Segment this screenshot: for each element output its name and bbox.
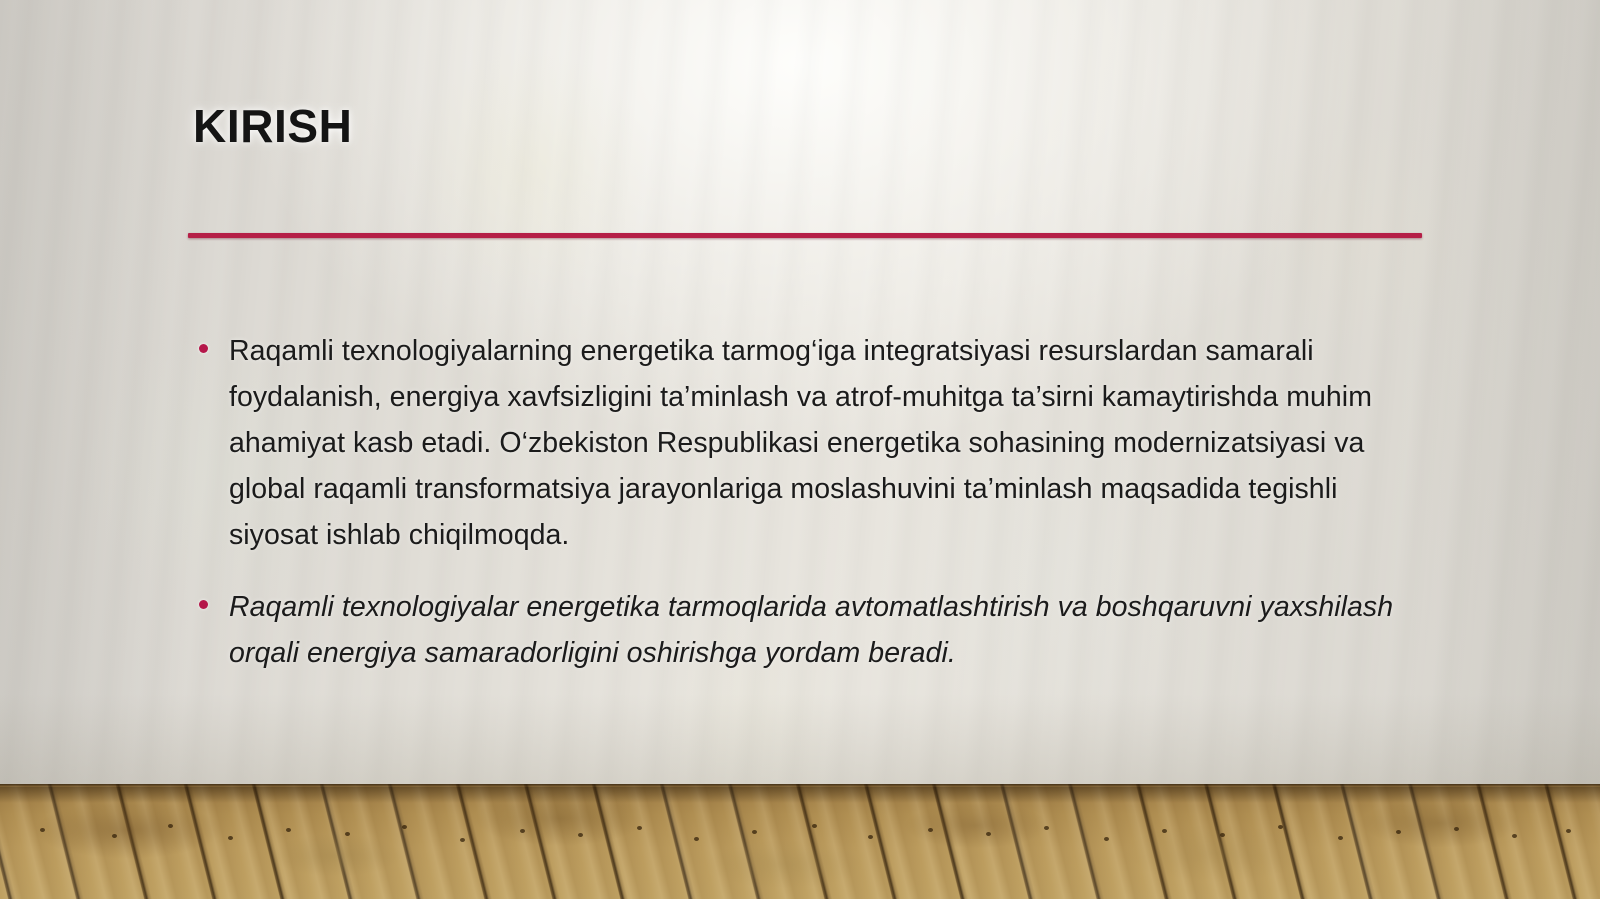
bullet-paragraph-2: Raqamli texnologiyalar energetika tarmoq… — [229, 584, 1406, 676]
bullet-dot-icon — [199, 600, 208, 609]
wooden-floor — [0, 784, 1600, 899]
list-item: Raqamli texnologiyalarning energetika ta… — [196, 328, 1406, 558]
bullet-dot-icon — [199, 344, 208, 353]
floor-wood-grain — [0, 784, 1600, 899]
bullet-paragraph-1: Raqamli texnologiyalarning energetika ta… — [229, 328, 1406, 558]
floor-edge-line — [0, 784, 1600, 787]
list-item: Raqamli texnologiyalar energetika tarmoq… — [196, 584, 1406, 676]
presentation-slide: KIRISH Raqamli texnologiyalarning energe… — [0, 0, 1600, 899]
title-divider-rule — [188, 233, 1422, 238]
slide-content: KIRISH Raqamli texnologiyalarning energe… — [0, 0, 1600, 784]
slide-title: KIRISH — [193, 99, 353, 153]
bullet-list: Raqamli texnologiyalarning energetika ta… — [196, 328, 1406, 676]
